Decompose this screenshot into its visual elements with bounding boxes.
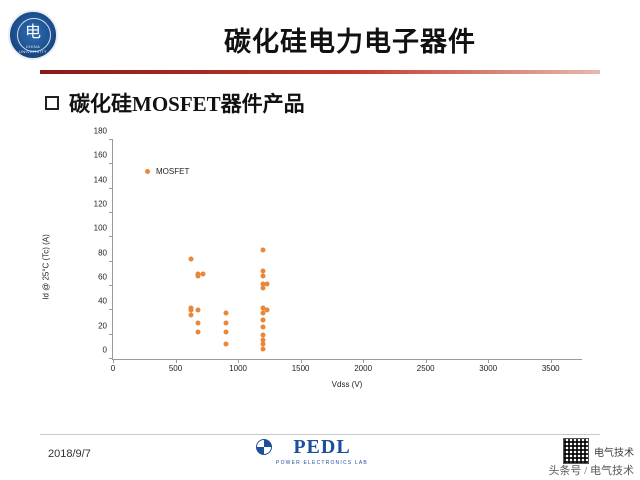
slide: 电 CHINA UNIVERSITY 碳化硅电力电子器件 碳化硅MOSFET器件… [0,0,640,480]
y-tick-label: 180 [94,127,107,136]
y-tick-mark [109,285,113,286]
chart-legend: MOSFET [145,167,189,176]
y-tick-mark [109,188,113,189]
slide-date: 2018/9/7 [48,448,91,460]
data-point [264,281,269,286]
y-tick-mark [109,139,113,140]
logo-character: 电 [22,22,44,44]
data-point [261,274,266,279]
watermark-account: 头条号 / 电气技术 [548,462,634,478]
y-tick-mark [109,261,113,262]
data-point [188,257,193,262]
watermark: 电气技术 [563,438,634,464]
y-tick-mark [109,309,113,310]
data-point [264,308,269,313]
y-tick-label: 160 [94,151,107,160]
footer-logo: PEDL POWER ELECTRONICS LAB [272,436,372,466]
x-tick-label: 2000 [354,364,372,373]
y-tick-mark [109,334,113,335]
x-tick-mark [488,359,489,363]
title-rule [40,70,600,74]
data-point [201,271,206,276]
logo-arc-text: CHINA UNIVERSITY [12,44,54,54]
data-point [196,320,201,325]
y-tick-mark [109,236,113,237]
scatter-chart: Id @ 25°C (Tc) (A) Vdss (V) 020406080100… [40,132,600,402]
y-tick-mark [109,212,113,213]
data-point [223,320,228,325]
page-title: 碳化硅电力电子器件 [140,20,560,59]
university-logo: 电 CHINA UNIVERSITY [8,10,60,62]
data-point [261,247,266,252]
pedl-swirl-icon [256,439,272,455]
x-tick-label: 2500 [417,364,435,373]
y-tick-label: 120 [94,200,107,209]
y-tick-label: 0 [103,346,107,355]
x-tick-label: 500 [169,364,182,373]
x-axis-label: Vdss (V) [112,380,582,389]
section-heading-label: 碳化硅MOSFET器件产品 [69,88,305,118]
footer-logo-text: PEDL [272,436,372,459]
qr-code-icon [563,438,589,464]
data-point [223,310,228,315]
watermark-label: 电气技术 [594,444,634,459]
x-tick-mark [551,359,552,363]
y-tick-mark [109,163,113,164]
x-tick-mark [426,359,427,363]
y-tick-label: 60 [98,273,107,282]
bullet-square-icon [45,96,59,110]
footer-divider [40,434,600,435]
x-tick-label: 1500 [292,364,310,373]
data-point [261,318,266,323]
footer-logo-subtext: POWER ELECTRONICS LAB [272,460,372,466]
data-point [223,330,228,335]
legend-marker-icon [145,169,150,174]
x-tick-mark [301,359,302,363]
x-tick-mark [176,359,177,363]
x-tick-label: 0 [111,364,115,373]
y-axis-label: Id @ 25°C (Tc) (A) [42,187,51,347]
x-tick-label: 3500 [542,364,560,373]
data-point [261,286,266,291]
data-point [261,347,266,352]
y-tick-label: 140 [94,175,107,184]
x-tick-mark [363,359,364,363]
y-tick-label: 100 [94,224,107,233]
section-heading: 碳化硅MOSFET器件产品 [45,88,305,118]
data-point [261,325,266,330]
y-tick-label: 20 [98,321,107,330]
y-tick-label: 80 [98,248,107,257]
data-point [223,342,228,347]
y-tick-label: 40 [98,297,107,306]
x-tick-mark [113,359,114,363]
x-tick-mark [238,359,239,363]
data-point [188,313,193,318]
x-tick-label: 3000 [479,364,497,373]
x-tick-label: 1000 [229,364,247,373]
data-point [196,330,201,335]
data-point [196,308,201,313]
legend-label: MOSFET [156,167,189,176]
